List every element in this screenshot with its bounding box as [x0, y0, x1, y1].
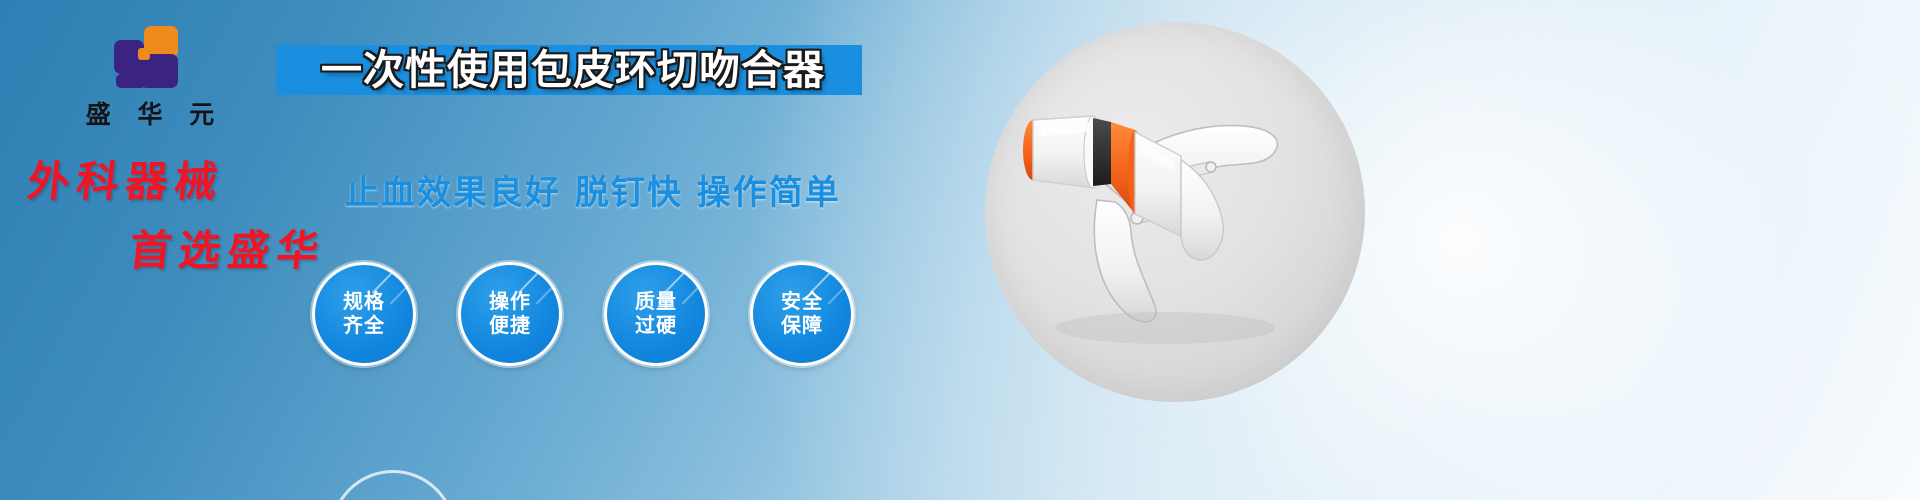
subtitle: 止血效果良好 脱钉快 操作简单	[345, 165, 841, 214]
logo-mark-icon	[114, 26, 186, 88]
feature-label-line-1: 操作	[489, 290, 531, 314]
slash-decoration-icon	[518, 266, 544, 293]
feature-circle[interactable]: 规格 齐全	[312, 262, 416, 366]
slash-decoration-icon	[682, 287, 699, 304]
feature-circle[interactable]: 安全 保障	[750, 262, 854, 366]
product-image	[985, 22, 1365, 402]
feature-label-line-1: 安全	[781, 290, 823, 314]
feature-label-line-2: 过硬	[635, 314, 677, 338]
feature-circle[interactable]: 质量 过硬	[604, 262, 708, 366]
calligraphy-line-1: 外科器械	[25, 148, 341, 209]
slash-decoration-icon	[390, 287, 407, 304]
page-title: 一次性使用包皮环切吻合器	[288, 44, 858, 96]
calligraphy-slogan: 外科器械 首选盛华	[18, 148, 338, 278]
brand-name: 盛 华 元	[60, 95, 240, 131]
logo-shape-orange-dot	[138, 48, 150, 60]
feature-label-line-2: 齐全	[343, 314, 385, 338]
feature-label-line-2: 便捷	[489, 314, 531, 338]
stapler-illustration-icon	[985, 22, 1365, 402]
feature-label-line-1: 规格	[343, 290, 385, 314]
logo-shape-purple-bottom	[116, 74, 146, 88]
feature-label-line-1: 质量	[635, 290, 677, 314]
slash-decoration-icon	[664, 266, 690, 293]
decorative-arc	[330, 470, 456, 500]
calligraphy-line-2: 首选盛华	[127, 217, 341, 278]
slash-decoration-icon	[372, 266, 398, 293]
slash-decoration-icon	[810, 266, 836, 293]
slash-decoration-icon	[536, 287, 553, 304]
feature-label-line-2: 保障	[781, 314, 823, 338]
slash-decoration-icon	[828, 287, 845, 304]
feature-circle-list: 规格 齐全 操作 便捷 质量 过硬 安全 保障	[312, 262, 854, 366]
promo-banner: 盛 华 元 一次性使用包皮环切吻合器 外科器械 首选盛华 止血效果良好 脱钉快 …	[0, 0, 1920, 500]
feature-circle[interactable]: 操作 便捷	[458, 262, 562, 366]
brand-logo[interactable]: 盛 华 元	[60, 26, 240, 131]
